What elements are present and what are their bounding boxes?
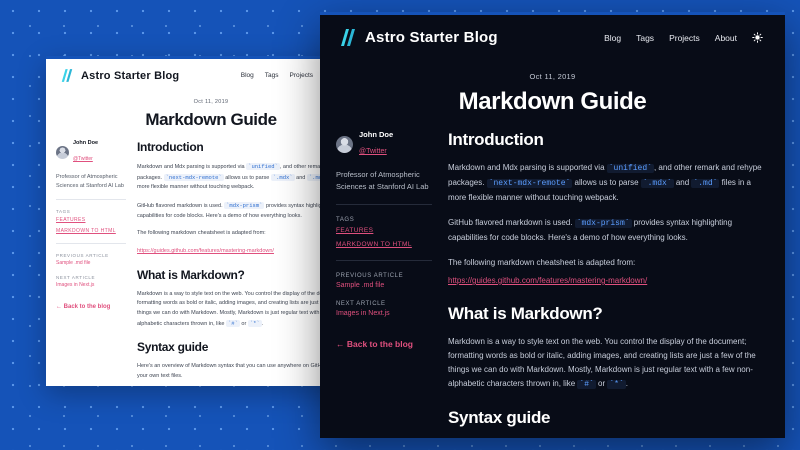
inline-code-mdx: `.mdx` (641, 179, 674, 188)
author-card-light: John Doe @Twitter (56, 140, 126, 165)
astro-logo-icon (58, 69, 73, 82)
brand-light[interactable]: Astro Starter Blog (58, 69, 179, 82)
author-card: John Doe @Twitter (336, 130, 432, 158)
post-sidebar: John Doe @Twitter Professor of Atmospher… (336, 130, 432, 438)
main-nav-dark: Blog Tags Projects About (604, 32, 763, 43)
dark-theme-preview-panel[interactable]: Astro Starter Blog Blog Tags Projects Ab… (320, 12, 785, 438)
tag-markdown-to-html[interactable]: MARKDOWN TO HTML (336, 241, 412, 248)
tag-markdown-to-html-light[interactable]: MARKDOWN TO HTML (56, 228, 116, 234)
back-to-blog-link[interactable]: ← Back to the blog (336, 339, 432, 349)
author-bio: Professor of Atmospheric Sciences at Sta… (336, 169, 432, 192)
tags-section: TAGS FEATURES MARKDOWN TO HTML (336, 217, 432, 248)
heading-introduction: Introduction (448, 130, 765, 150)
post-body-dark: John Doe @Twitter Professor of Atmospher… (320, 122, 785, 438)
brand-name-light: Astro Starter Blog (81, 70, 179, 82)
next-article-link[interactable]: Images in Next.js (336, 310, 432, 317)
inline-code-hash: `#` (577, 380, 595, 389)
inline-code-unified: `unified` (607, 164, 654, 173)
next-article-light: NEXT ARTICLE Images in Next.js (56, 275, 126, 288)
cheatsheet-intro: The following markdown cheatsheet is ada… (448, 256, 765, 270)
tags-label: TAGS (336, 217, 432, 223)
author-handle-link[interactable]: @Twitter (359, 148, 387, 155)
sidebar-divider-2 (336, 260, 432, 261)
inline-code-next-mdx-remote-light: `next-mdx-remote` (164, 174, 224, 181)
tag-features-light[interactable]: FEATURES (56, 217, 86, 223)
post-title: Markdown Guide (320, 88, 785, 116)
tag-list-light: FEATURES MARKDOWN TO HTML (56, 217, 126, 234)
screenshot-stage: Astro Starter Blog Blog Tags Projects Ab… (0, 0, 800, 450)
nav-item-tags[interactable]: Tags (636, 33, 654, 43)
tag-list: FEATURES MARKDOWN TO HTML (336, 227, 432, 248)
author-name-light: John Doe (73, 140, 98, 147)
previous-article-label: PREVIOUS ARTICLE (336, 273, 432, 279)
sidebar-divider-1 (336, 204, 432, 205)
author-handle-light[interactable]: @Twitter (73, 156, 93, 162)
back-to-blog-link-light[interactable]: ← Back to the blog (56, 304, 126, 310)
inline-code-unified-light: `unified` (246, 163, 280, 170)
nav-item-blog-light[interactable]: Blog (241, 72, 254, 79)
next-article-link-light[interactable]: Images in Next.js (56, 282, 126, 288)
nav-item-about[interactable]: About (715, 33, 737, 43)
inline-code-mdx-light: `.mdx` (271, 174, 295, 181)
avatar-icon-light (56, 146, 69, 159)
cheatsheet-source-link-light[interactable]: https://guides.github.com/features/maste… (137, 248, 274, 254)
next-article-section: NEXT ARTICLE Images in Next.js (336, 301, 432, 317)
inline-code-next-mdx-remote: `next-mdx-remote` (487, 179, 573, 188)
previous-article-light: PREVIOUS ARTICLE Sample .md file (56, 253, 126, 266)
tags-label-light: TAGS (56, 209, 126, 214)
tag-features[interactable]: FEATURES (336, 227, 373, 234)
next-article-label: NEXT ARTICLE (336, 301, 432, 307)
heading-syntax-guide: Syntax guide (448, 408, 765, 428)
cheatsheet-source-link[interactable]: https://guides.github.com/features/maste… (448, 276, 647, 285)
avatar-icon (336, 136, 353, 153)
heading-what-is-markdown: What is Markdown? (448, 304, 765, 324)
previous-article-label-light: PREVIOUS ARTICLE (56, 253, 126, 258)
inline-code-md: `.md` (691, 179, 719, 188)
brand-name-dark: Astro Starter Blog (365, 29, 498, 46)
previous-article-link[interactable]: Sample .md file (336, 282, 432, 289)
astro-logo-icon (336, 29, 356, 46)
post-date: Oct 11, 2019 (320, 72, 785, 81)
what-is-markdown-paragraph: Markdown is a way to style text on the w… (448, 335, 765, 392)
post-header-dark: Oct 11, 2019 Markdown Guide (320, 58, 785, 122)
tags-section-light: TAGS FEATURES MARKDOWN TO HTML (56, 209, 126, 234)
author-name: John Doe (359, 130, 393, 140)
sidebar-divider-light-1 (56, 199, 126, 200)
intro-paragraph-2: GitHub flavored markdown is used. `mdx-p… (448, 216, 765, 245)
author-bio-light: Professor of Atmospheric Sciences at Sta… (56, 173, 126, 190)
intro-paragraph-1: Markdown and Mdx parsing is supported vi… (448, 161, 765, 205)
nav-item-blog[interactable]: Blog (604, 33, 621, 43)
previous-article-section: PREVIOUS ARTICLE Sample .md file (336, 273, 432, 289)
site-header-dark: Astro Starter Blog Blog Tags Projects Ab… (320, 15, 785, 58)
brand-dark[interactable]: Astro Starter Blog (336, 29, 498, 46)
inline-code-asterisk: `*` (607, 380, 625, 389)
article-content: Introduction Markdown and Mdx parsing is… (448, 130, 765, 438)
previous-article-link-light[interactable]: Sample .md file (56, 260, 126, 266)
nav-item-projects[interactable]: Projects (669, 33, 700, 43)
inline-code-mdx-prism: `mdx-prism` (575, 219, 632, 228)
inline-code-asterisk-light: `*` (248, 320, 262, 327)
nav-item-projects-light[interactable]: Projects (290, 72, 313, 79)
inline-code-mdx-prism-light: `mdx-prism` (224, 202, 264, 209)
post-sidebar-light: John Doe @Twitter Professor of Atmospher… (56, 140, 126, 382)
next-article-label-light: NEXT ARTICLE (56, 275, 126, 280)
sidebar-divider-light-2 (56, 243, 126, 244)
inline-code-hash-light: `#` (226, 320, 240, 327)
sun-icon[interactable] (752, 32, 763, 43)
nav-item-tags-light[interactable]: Tags (265, 72, 279, 79)
